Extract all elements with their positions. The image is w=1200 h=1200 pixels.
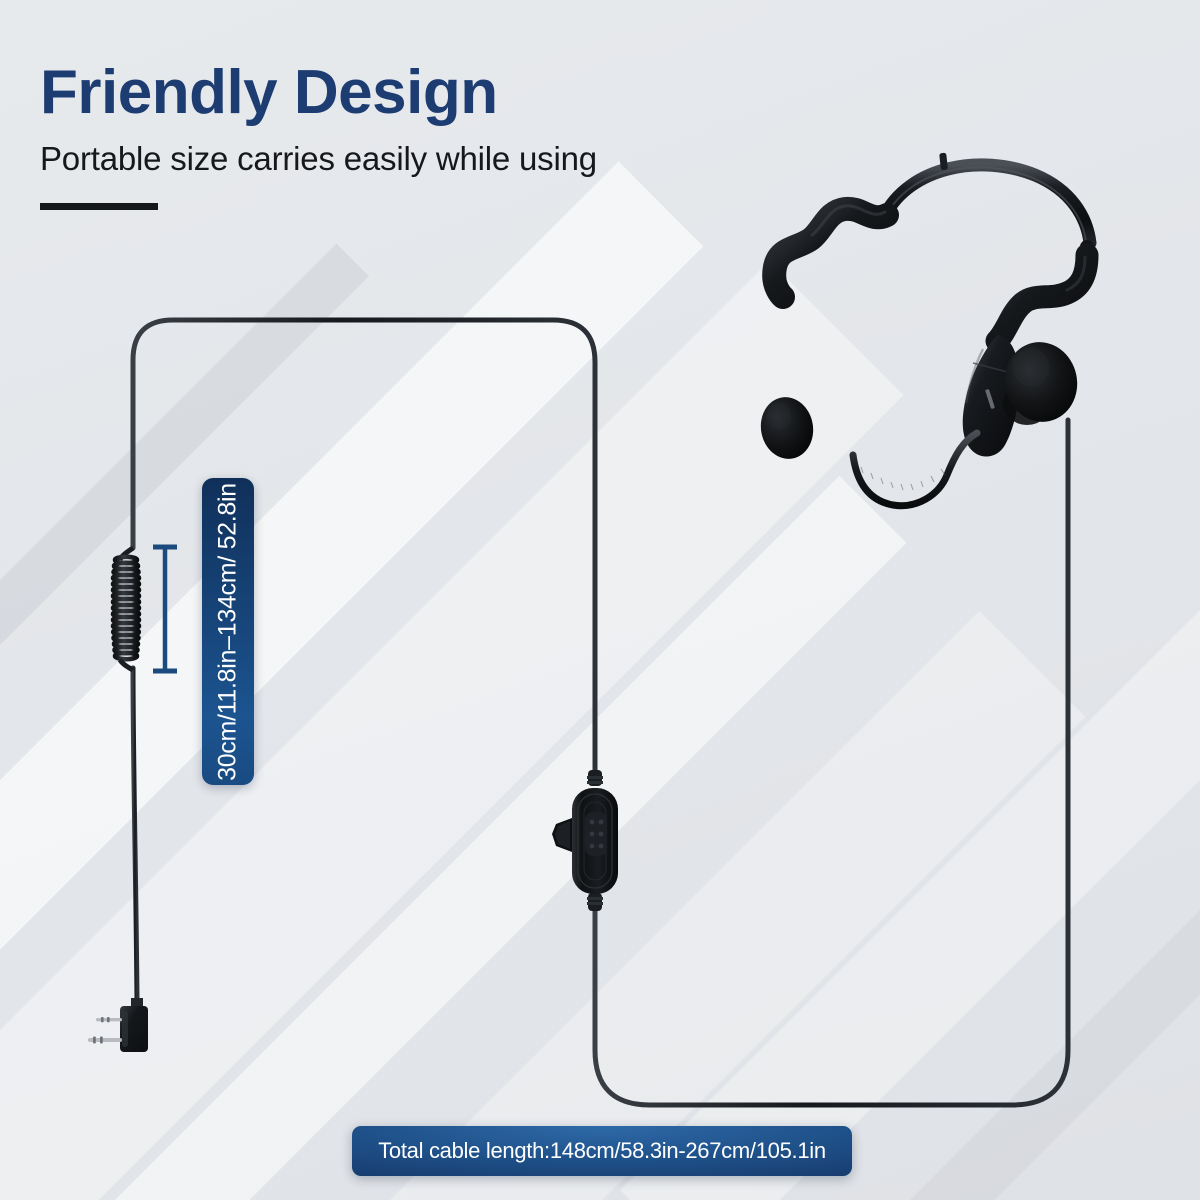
headband [885,153,1094,254]
ptt-control-module [552,770,618,911]
measurement-bracket-icon [150,543,180,675]
coil-length-badge: 30cm/11.8in–134cm/ 52.8in [202,478,254,785]
coiled-cord [113,548,139,670]
k-plug-2-pin-connector [88,998,148,1052]
total-cable-length-banner: Total cable length:148cm/58.3in-267cm/10… [352,1126,852,1176]
cable-left-straight [133,668,137,1000]
mic-windscreen [756,393,818,463]
head-pad-left [774,206,887,297]
headset-product-image [735,135,1135,535]
product-marketing-image: Friendly Design Portable size carries ea… [0,0,1200,1200]
boom-microphone [853,433,977,506]
coil-length-label: 30cm/11.8in–134cm/ 52.8in [214,483,243,781]
total-cable-length-label: Total cable length:148cm/58.3in-267cm/10… [378,1138,826,1164]
head-pad-right [997,255,1087,341]
